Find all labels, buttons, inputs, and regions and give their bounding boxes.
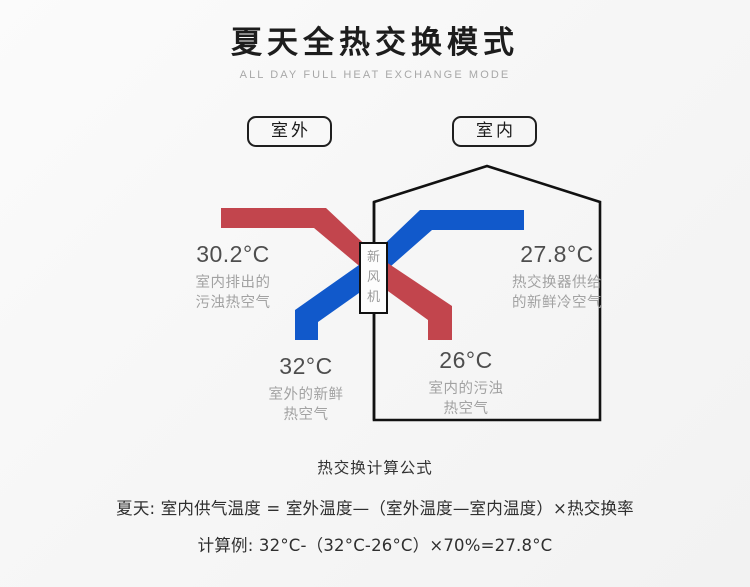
callout-exhaust-out-line1: 室内排出的 xyxy=(168,273,298,294)
formula-title: 热交换计算公式 xyxy=(0,456,750,478)
callout-return-out-line1: 室内的污浊 xyxy=(404,379,528,400)
formula-block: 热交换计算公式 夏天: 室内供气温度 = 室外温度—（室外温度—室内温度）×热交… xyxy=(0,456,750,556)
callout-return-out-temperature: 26°C xyxy=(404,344,528,377)
diagram-stage: 夏天全热交换模式 ALL DAY FULL HEAT EXCHANGE MODE… xyxy=(0,0,750,587)
page-title: 夏天全热交换模式 xyxy=(0,26,750,62)
callout-fresh-in-line1: 室外的新鲜 xyxy=(245,385,367,406)
callout-return-out: 26°C 室内的污浊 热空气 xyxy=(404,344,528,420)
formula-line-example: 计算例: 32°C-（32°C-26°C）×70%=27.8°C xyxy=(0,532,750,556)
callout-supply-in-line2: 的新鲜冷空气 xyxy=(487,293,627,314)
zone-label-outdoor: 室外 xyxy=(247,116,332,147)
callout-supply-in-temperature: 27.8°C xyxy=(487,238,627,271)
unit-char-2: 风 xyxy=(367,268,380,288)
unit-char-1: 新 xyxy=(367,248,380,268)
callout-supply-in: 27.8°C 热交换器供给 的新鲜冷空气 xyxy=(487,238,627,314)
zone-label-indoor: 室内 xyxy=(452,116,537,147)
unit-char-3: 机 xyxy=(367,288,380,308)
callout-fresh-in-description: 室外的新鲜 热空气 xyxy=(245,385,367,426)
page-subtitle: ALL DAY FULL HEAT EXCHANGE MODE xyxy=(0,69,750,81)
fresh-air-unit[interactable]: 新 风 机 xyxy=(359,242,388,314)
callout-fresh-in: 32°C 室外的新鲜 热空气 xyxy=(245,350,367,426)
callout-supply-in-description: 热交换器供给 的新鲜冷空气 xyxy=(487,273,627,314)
callout-supply-in-line1: 热交换器供给 xyxy=(487,273,627,294)
callout-return-out-line2: 热空气 xyxy=(404,399,528,420)
callout-fresh-in-temperature: 32°C xyxy=(245,350,367,383)
callout-exhaust-out-line2: 污浊热空气 xyxy=(168,293,298,314)
callout-exhaust-out-description: 室内排出的 污浊热空气 xyxy=(168,273,298,314)
callout-exhaust-out: 30.2°C 室内排出的 污浊热空气 xyxy=(168,238,298,314)
formula-line-summer: 夏天: 室内供气温度 = 室外温度—（室外温度—室内温度）×热交换率 xyxy=(0,495,750,519)
callout-return-out-description: 室内的污浊 热空气 xyxy=(404,379,528,420)
callout-fresh-in-line2: 热空气 xyxy=(245,405,367,426)
header: 夏天全热交换模式 ALL DAY FULL HEAT EXCHANGE MODE xyxy=(0,26,750,81)
callout-exhaust-out-temperature: 30.2°C xyxy=(168,238,298,271)
